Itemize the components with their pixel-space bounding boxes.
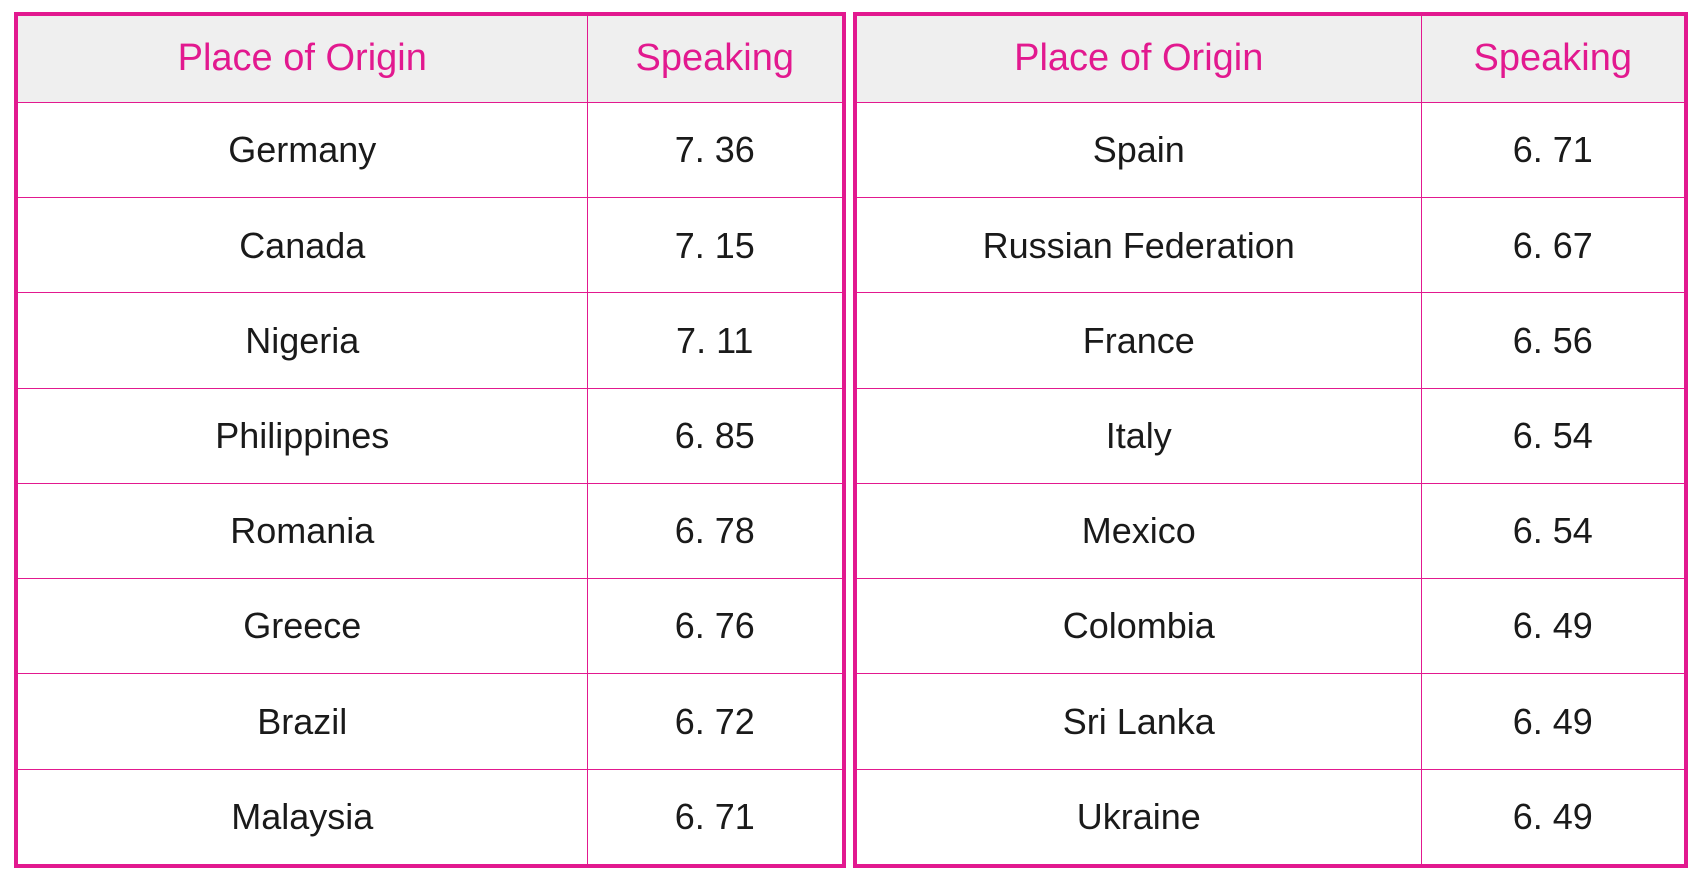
- cell-place: Spain: [855, 103, 1421, 198]
- cell-speaking: 6. 76: [587, 579, 844, 674]
- table-right-header: Place of Origin Speaking: [855, 14, 1686, 103]
- cell-speaking: 6. 78: [587, 483, 844, 578]
- cell-speaking: 6. 71: [1421, 103, 1686, 198]
- tables-container: Place of Origin Speaking Germany 7. 36 C…: [14, 12, 1680, 868]
- origin-speaking-table-left: Place of Origin Speaking Germany 7. 36 C…: [14, 12, 846, 868]
- column-header-speaking: Speaking: [587, 14, 844, 103]
- cell-speaking: 6. 49: [1421, 579, 1686, 674]
- table-row: Ukraine 6. 49: [855, 769, 1686, 866]
- cell-place: Brazil: [16, 674, 587, 769]
- cell-place: Philippines: [16, 388, 587, 483]
- cell-place: Malaysia: [16, 769, 587, 866]
- table-row: Italy 6. 54: [855, 388, 1686, 483]
- table-left-body: Germany 7. 36 Canada 7. 15 Nigeria 7. 11…: [16, 103, 844, 867]
- cell-place: Russian Federation: [855, 198, 1421, 293]
- cell-place: Sri Lanka: [855, 674, 1421, 769]
- table-row: Nigeria 7. 11: [16, 293, 844, 388]
- table-header-row: Place of Origin Speaking: [16, 14, 844, 103]
- origin-speaking-table-right: Place of Origin Speaking Spain 6. 71 Rus…: [853, 12, 1688, 868]
- page-root: Place of Origin Speaking Germany 7. 36 C…: [0, 0, 1694, 882]
- cell-speaking: 7. 15: [587, 198, 844, 293]
- cell-speaking: 7. 11: [587, 293, 844, 388]
- cell-place: France: [855, 293, 1421, 388]
- cell-speaking: 6. 54: [1421, 388, 1686, 483]
- cell-place: Mexico: [855, 483, 1421, 578]
- cell-speaking: 6. 49: [1421, 674, 1686, 769]
- table-row: Mexico 6. 54: [855, 483, 1686, 578]
- table-row: Germany 7. 36: [16, 103, 844, 198]
- table-row: Malaysia 6. 71: [16, 769, 844, 866]
- cell-place: Germany: [16, 103, 587, 198]
- column-header-place-of-origin: Place of Origin: [855, 14, 1421, 103]
- cell-speaking: 6. 85: [587, 388, 844, 483]
- cell-speaking: 6. 72: [587, 674, 844, 769]
- table-right-body: Spain 6. 71 Russian Federation 6. 67 Fra…: [855, 103, 1686, 867]
- table-row: Spain 6. 71: [855, 103, 1686, 198]
- table-row: Romania 6. 78: [16, 483, 844, 578]
- cell-place: Canada: [16, 198, 587, 293]
- cell-speaking: 6. 71: [587, 769, 844, 866]
- table-row: Greece 6. 76: [16, 579, 844, 674]
- column-header-speaking: Speaking: [1421, 14, 1686, 103]
- cell-speaking: 7. 36: [587, 103, 844, 198]
- table-row: Brazil 6. 72: [16, 674, 844, 769]
- table-row: Russian Federation 6. 67: [855, 198, 1686, 293]
- table-row: France 6. 56: [855, 293, 1686, 388]
- table-row: Philippines 6. 85: [16, 388, 844, 483]
- cell-speaking: 6. 54: [1421, 483, 1686, 578]
- table-header-row: Place of Origin Speaking: [855, 14, 1686, 103]
- table-left-header: Place of Origin Speaking: [16, 14, 844, 103]
- cell-place: Greece: [16, 579, 587, 674]
- cell-speaking: 6. 49: [1421, 769, 1686, 866]
- cell-speaking: 6. 56: [1421, 293, 1686, 388]
- table-row: Colombia 6. 49: [855, 579, 1686, 674]
- cell-speaking: 6. 67: [1421, 198, 1686, 293]
- cell-place: Italy: [855, 388, 1421, 483]
- cell-place: Colombia: [855, 579, 1421, 674]
- cell-place: Romania: [16, 483, 587, 578]
- cell-place: Nigeria: [16, 293, 587, 388]
- cell-place: Ukraine: [855, 769, 1421, 866]
- table-row: Sri Lanka 6. 49: [855, 674, 1686, 769]
- column-header-place-of-origin: Place of Origin: [16, 14, 587, 103]
- table-row: Canada 7. 15: [16, 198, 844, 293]
